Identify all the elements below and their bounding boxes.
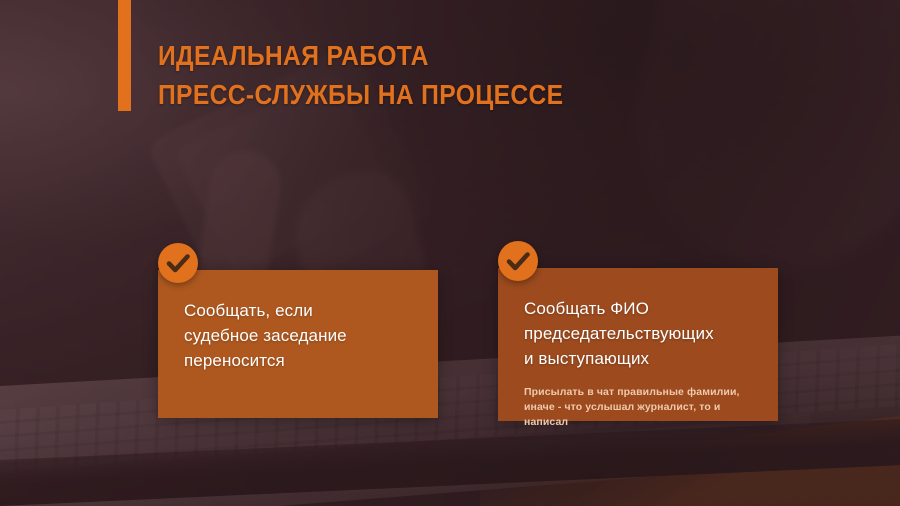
content-card-left: Сообщать, если судебное заседание перено… <box>158 270 438 418</box>
check-circle-icon <box>158 243 198 283</box>
heading-line-3: и выступающих <box>524 346 752 371</box>
heading-line-3: переносится <box>184 348 412 373</box>
heading-line-1: Сообщать, если <box>184 298 412 323</box>
content-card-left-body: Сообщать, если судебное заседание перено… <box>158 270 438 418</box>
title-accent-bar <box>118 0 131 111</box>
presentation-slide: ИДЕАЛЬНАЯ РАБОТА ПРЕСС-СЛУЖБЫ НА ПРОЦЕСС… <box>0 0 900 506</box>
content-card-left-heading: Сообщать, если судебное заседание перено… <box>184 298 412 373</box>
check-circle-icon <box>498 241 538 281</box>
content-card-right-heading: Сообщать ФИО председательствующих и выст… <box>524 296 752 371</box>
heading-line-1: Сообщать ФИО <box>524 296 752 321</box>
content-card-right-body: Сообщать ФИО председательствующих и выст… <box>498 268 778 421</box>
page-title-line-2: ПРЕСС-СЛУЖБЫ НА ПРОЦЕССЕ <box>158 75 563 114</box>
subtext-line-1: Присылать в чат правильные фамилии, <box>524 385 752 400</box>
page-title: ИДЕАЛЬНАЯ РАБОТА ПРЕСС-СЛУЖБЫ НА ПРОЦЕСС… <box>158 36 563 114</box>
page-title-line-1: ИДЕАЛЬНАЯ РАБОТА <box>158 36 563 75</box>
heading-line-2: председательствующих <box>524 321 752 346</box>
heading-line-2: судебное заседание <box>184 323 412 348</box>
content-card-right: Сообщать ФИО председательствующих и выст… <box>498 268 778 421</box>
content-card-right-subtext: Присылать в чат правильные фамилии, инач… <box>524 385 752 430</box>
subtext-line-2: иначе - что услышал журналист, то и напи… <box>524 400 752 430</box>
